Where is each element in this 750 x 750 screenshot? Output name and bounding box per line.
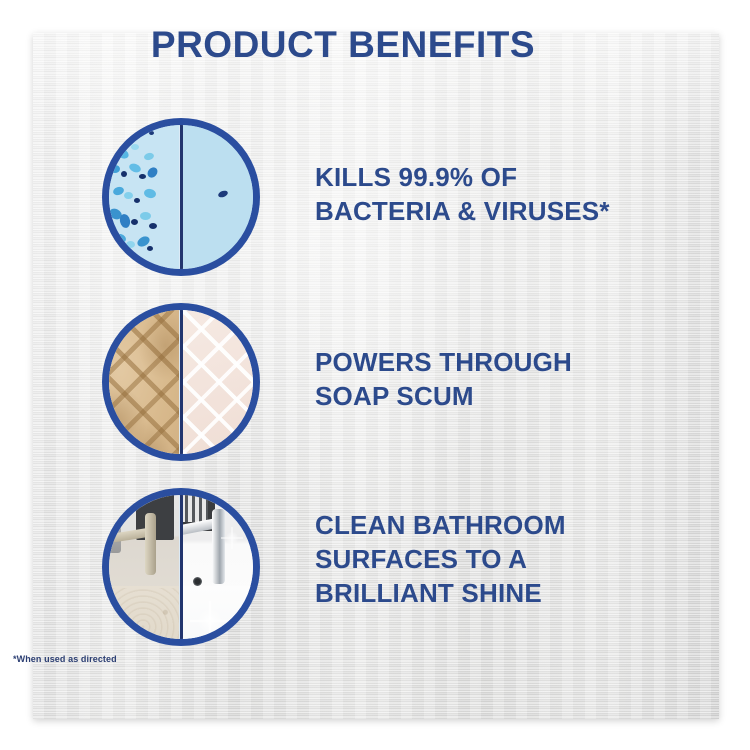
benefit-line: KILLS 99.9% OF xyxy=(315,160,675,194)
clean-sink-surface xyxy=(183,488,255,646)
bacteria-clean-surface xyxy=(183,118,255,276)
before-after-divider xyxy=(180,125,183,269)
soap-scum-before-after-circle xyxy=(102,303,260,461)
footnote: *When used as directed xyxy=(13,654,117,664)
sparkle-icon xyxy=(221,527,243,549)
sparkle-icon xyxy=(190,601,230,641)
dirty-counter xyxy=(107,586,179,646)
bacteria-after-half xyxy=(183,118,255,276)
benefit-line: POWERS THROUGH xyxy=(315,345,675,379)
dirty-sink-surface xyxy=(107,488,179,646)
faucet-after-half xyxy=(183,488,255,646)
clean-tile-surface xyxy=(183,303,255,461)
page-title: PRODUCT BENEFITS xyxy=(0,26,686,63)
bacteria-before-half xyxy=(107,118,179,276)
faucet-before-half xyxy=(107,488,179,646)
soap-scum-after-half xyxy=(183,303,255,461)
benefit-line: SOAP SCUM xyxy=(315,379,675,413)
benefit-row-brilliant-shine: CLEAN BATHROOM SURFACES TO A BRILLIANT S… xyxy=(0,488,686,648)
faucet-before-after-circle xyxy=(102,488,260,646)
faucet-base xyxy=(145,513,156,575)
bacteria-dirty-surface xyxy=(107,118,179,276)
infographic-root: PRODUCT BENEFITS xyxy=(0,0,750,750)
drain-icon xyxy=(193,577,202,586)
benefit-text-kills-bacteria: KILLS 99.9% OF BACTERIA & VIRUSES* xyxy=(315,160,675,228)
benefit-line: SURFACES TO A xyxy=(315,542,675,576)
soap-scum-before-half xyxy=(107,303,179,461)
benefit-row-soap-scum: POWERS THROUGH SOAP SCUM xyxy=(0,303,686,463)
benefit-text-soap-scum: POWERS THROUGH SOAP SCUM xyxy=(315,345,675,413)
benefit-row-kills-bacteria: KILLS 99.9% OF BACTERIA & VIRUSES* xyxy=(0,118,686,278)
benefit-text-brilliant-shine: CLEAN BATHROOM SURFACES TO A BRILLIANT S… xyxy=(315,508,675,610)
before-after-divider xyxy=(180,495,183,639)
benefit-line: BACTERIA & VIRUSES* xyxy=(315,194,675,228)
dirty-tile-surface xyxy=(107,303,179,461)
infographic-content: PRODUCT BENEFITS xyxy=(0,0,750,750)
circle-frame xyxy=(102,118,260,276)
before-after-divider xyxy=(180,310,183,454)
benefit-line: BRILLIANT SHINE xyxy=(315,576,675,610)
circle-frame xyxy=(102,488,260,646)
benefit-line: CLEAN BATHROOM xyxy=(315,508,675,542)
bacteria-before-after-circle xyxy=(102,118,260,276)
circle-frame xyxy=(102,303,260,461)
